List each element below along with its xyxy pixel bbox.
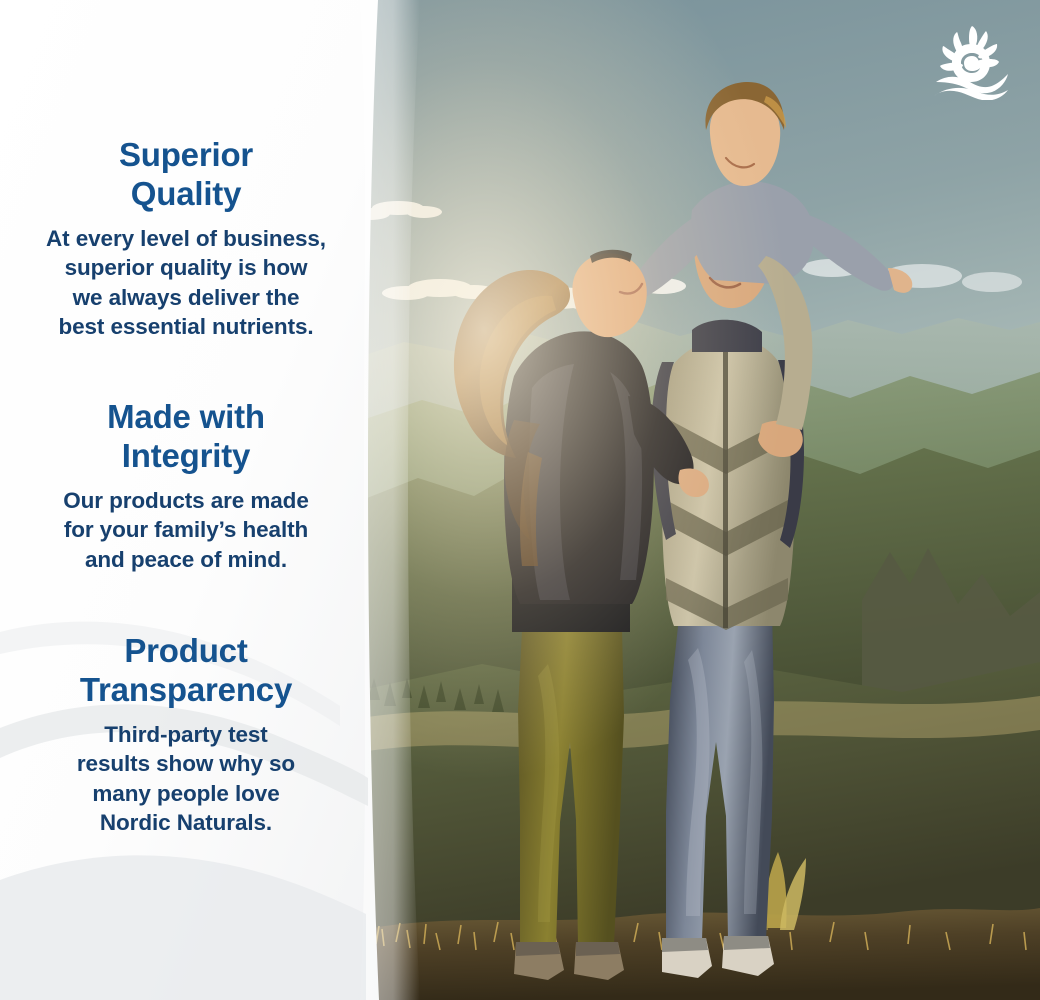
value-body-made-with-integrity: Our products are made for your family’s … (18, 486, 354, 574)
sun-glow (362, 0, 1040, 1000)
value-props-column: Superior Quality At every level of busin… (0, 0, 372, 1000)
value-body-superior-quality: At every level of business, superior qua… (18, 224, 354, 342)
brand-values-poster: Superior Quality At every level of busin… (0, 0, 1040, 1000)
value-block-product-transparency: Product Transparency Third-party test re… (18, 632, 354, 838)
value-title-product-transparency: Product Transparency (18, 632, 354, 710)
photo-illustration (362, 0, 1040, 1000)
sun-and-waves-logo-icon (928, 22, 1014, 100)
family-mountain-photo (362, 0, 1040, 1000)
logo-svg (928, 22, 1014, 100)
value-body-product-transparency: Third-party test results show why so man… (18, 720, 354, 838)
value-block-superior-quality: Superior Quality At every level of busin… (18, 136, 354, 342)
value-title-made-with-integrity: Made with Integrity (18, 398, 354, 476)
value-title-superior-quality: Superior Quality (18, 136, 354, 214)
value-block-made-with-integrity: Made with Integrity Our products are mad… (18, 398, 354, 574)
